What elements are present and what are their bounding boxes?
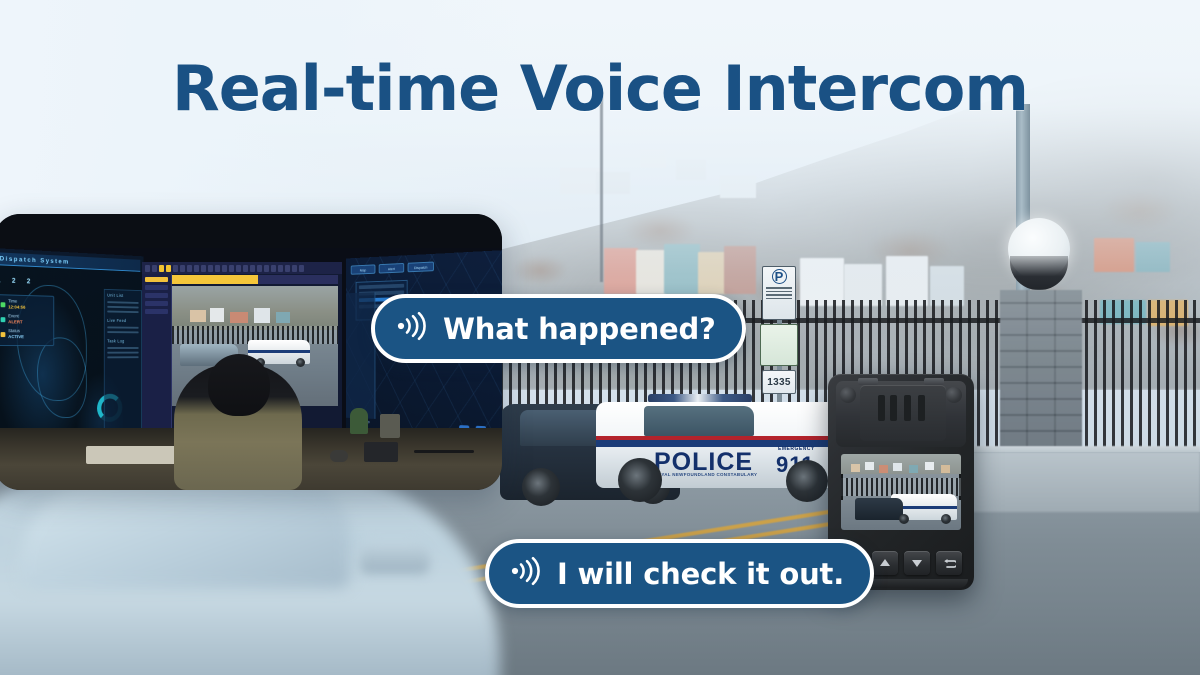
mount-screw [946, 387, 962, 403]
counter-value: 1 [0, 277, 1, 284]
dispatch-system-title: Dispatch System [0, 255, 70, 265]
feed-house [190, 310, 206, 322]
voice-wave-icon [395, 309, 429, 348]
triangle-down-icon [911, 558, 923, 568]
dispatcher-message-text: What happened? [443, 312, 716, 346]
channel-item [145, 301, 168, 306]
status-row: Status ACTIVE [0, 325, 53, 340]
feed-house [276, 312, 290, 323]
map-side-panel: Unit List Live Feed Task Log [104, 289, 142, 438]
unit-counters: 1 2 2 [0, 277, 30, 285]
dispatch-map-monitor: Dispatch System Unit List Live Feed Task… [0, 248, 144, 448]
officer-message-text: I will check it out. [557, 557, 844, 591]
status-value: ACTIVE [8, 335, 24, 341]
triangle-up-icon [879, 558, 891, 568]
feed-house [230, 312, 248, 323]
counter-value: 2 [12, 278, 16, 285]
channel-item [145, 309, 168, 314]
feed-house [210, 308, 224, 322]
side-panel-title: Unit List [105, 290, 141, 300]
foreground-car-windshield [20, 478, 350, 588]
feed-house [254, 308, 270, 323]
clip-rib [878, 395, 885, 421]
video-channel-list[interactable] [142, 274, 172, 436]
video-timeline-scrubber[interactable] [172, 275, 338, 284]
dark-sedan-wheel [522, 468, 560, 506]
bodycam-display [841, 454, 961, 530]
parking-sign: P [762, 266, 796, 320]
mount-screw [840, 387, 856, 403]
bodycam-clip [860, 385, 946, 441]
status-row: Time 12:04:56 [0, 295, 53, 311]
screenshot-stage: P 1335 POLICE EMERGENCY 911 ROYAL NEWFOU… [0, 0, 1200, 675]
bodycam-mount-top [836, 381, 966, 447]
display-dark-car [855, 498, 903, 520]
status-value: ALERT [8, 320, 22, 326]
gis-map-canvas: Unit List Live Feed Task Log [0, 265, 144, 448]
status-value: 12:04:56 [8, 305, 25, 311]
mouse [330, 450, 348, 462]
phone [364, 442, 398, 462]
back-button[interactable] [936, 551, 962, 575]
voice-wave-icon [509, 554, 543, 593]
parking-sign-lines [766, 287, 792, 301]
parking-zone-sign: 1335 [762, 370, 796, 394]
side-panel-title: Live Feed [105, 315, 141, 324]
map-left-column [346, 292, 375, 419]
side-panel-title: Task Log [105, 336, 141, 345]
up-button[interactable] [872, 551, 898, 575]
cruiser-wheel [618, 458, 662, 502]
coastline-shape [37, 337, 87, 419]
parking-p-letter: P [772, 269, 787, 284]
counter-value: 2 [27, 278, 31, 285]
pen-holder [380, 414, 400, 438]
green-info-sign [760, 324, 798, 366]
down-button[interactable] [904, 551, 930, 575]
display-wheel [899, 514, 909, 524]
clip-rib [904, 395, 911, 421]
dispatcher-speech-bubble[interactable]: What happened? [371, 294, 746, 363]
operator-head [208, 354, 270, 416]
cruiser-windshield [644, 406, 754, 436]
display-houses [841, 462, 961, 478]
cable [414, 450, 474, 453]
mount-tab [858, 378, 878, 385]
parking-zone-number: 1335 [767, 377, 790, 388]
tab-dispatch[interactable]: Dispatch [408, 262, 434, 273]
feed-police-car-stripe [248, 350, 310, 353]
tab-map[interactable]: Map [351, 264, 376, 274]
cruiser-wheel [786, 460, 828, 502]
channel-item [145, 285, 168, 290]
status-row: Event ALERT [0, 310, 53, 326]
video-toolbar[interactable] [142, 262, 342, 274]
cruiser-dept-subtext: ROYAL NEWFOUNDLAND CONSTABULARY [654, 472, 757, 477]
plant [350, 408, 368, 434]
officer-speech-bubble[interactable]: I will check it out. [485, 539, 874, 608]
unit-list-item [359, 284, 404, 289]
feed-wheel [296, 358, 305, 367]
channel-item [145, 277, 168, 282]
foreground-car-mirror [360, 540, 430, 574]
mount-tab [924, 378, 944, 385]
clip-rib [918, 395, 925, 421]
return-loop-icon [943, 558, 956, 569]
display-wheel [941, 514, 951, 524]
channel-item [145, 293, 168, 298]
page-title: Real-time Voice Intercom [0, 52, 1200, 125]
status-readout-box: Time 12:04:56 Event ALERT [0, 294, 54, 346]
clip-rib [890, 395, 897, 421]
tab-alert[interactable]: Alert [379, 263, 404, 274]
